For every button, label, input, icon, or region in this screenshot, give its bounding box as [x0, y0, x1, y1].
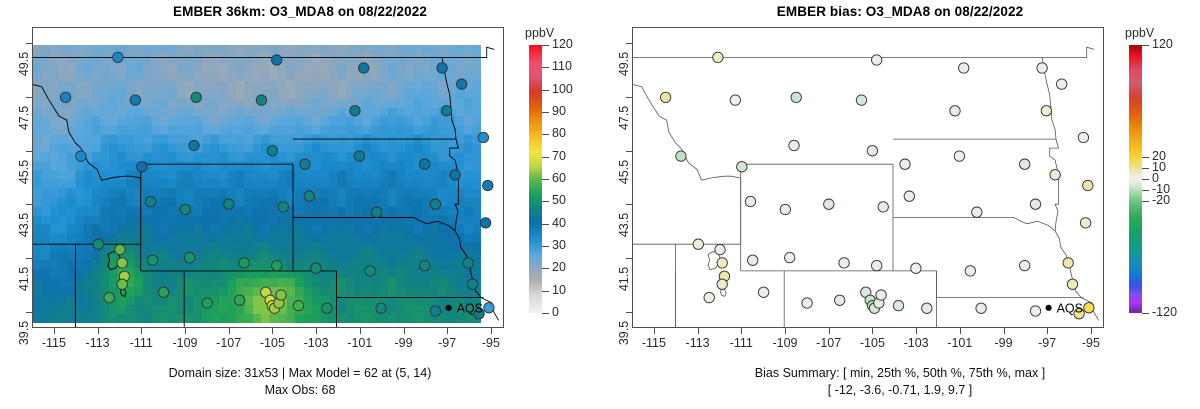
- colorbar-tick-label: 50: [552, 193, 566, 207]
- colorbar-tick-label: 120: [1152, 37, 1173, 51]
- bias-caption-line1: Bias Summary: [ min, 25th %, 50th %, 75t…: [600, 366, 1200, 380]
- colorbar-tick-label: -120: [1152, 305, 1177, 319]
- colorbar-tick-label: 80: [552, 126, 566, 140]
- colorbar-tick: [542, 313, 549, 314]
- colorbar-tick: [542, 179, 549, 180]
- colorbar-tick-label: 100: [552, 82, 573, 96]
- model-caption-line2: Max Obs: 68: [0, 383, 600, 397]
- colorbar-tick-label: 0: [552, 305, 559, 319]
- colorbar-tick-label: 60: [552, 171, 566, 185]
- colorbar-tick: [1142, 313, 1149, 314]
- bias-colorbar-unit: ppbV: [1125, 26, 1154, 40]
- bias-colorbar: ppbV -120-20-1001020120: [600, 0, 1200, 409]
- colorbar-tick-label: 40: [552, 216, 566, 230]
- bias-caption-line2: [ -12, -3.6, -0.71, 1.9, 9.7 ]: [600, 383, 1200, 397]
- colorbar-tick-label: 70: [552, 149, 566, 163]
- panel-model: EMBER 36km: O3_MDA8 on 08/22/2022 AQS -1…: [0, 0, 600, 409]
- model-caption-line1: Domain size: 31x53 | Max Model = 62 at (…: [0, 366, 600, 380]
- colorbar-tick: [542, 201, 549, 202]
- colorbar-tick: [542, 291, 549, 292]
- colorbar-tick-label: 20: [1152, 149, 1166, 163]
- panel-bias: EMBER bias: O3_MDA8 on 08/22/2022 AQS -1…: [600, 0, 1200, 409]
- colorbar-tick: [542, 67, 549, 68]
- model-colorbar-strip: [529, 45, 542, 313]
- colorbar-tick-label: 30: [552, 238, 566, 252]
- colorbar-tick: [1142, 190, 1149, 191]
- colorbar-tick-label: 110: [552, 59, 572, 73]
- model-colorbar-unit: ppbV: [525, 26, 554, 40]
- colorbar-tick: [1142, 168, 1149, 169]
- colorbar-tick: [542, 112, 549, 113]
- colorbar-tick-label: 120: [552, 37, 573, 51]
- colorbar-tick-label: 90: [552, 104, 566, 118]
- colorbar-tick: [1142, 157, 1149, 158]
- colorbar-tick: [1142, 45, 1149, 46]
- colorbar-tick: [1142, 179, 1149, 180]
- colorbar-tick: [542, 268, 549, 269]
- colorbar-tick-label: 20: [552, 260, 566, 274]
- colorbar-tick-label: 10: [552, 283, 566, 297]
- colorbar-tick: [542, 246, 549, 247]
- figure-root: EMBER 36km: O3_MDA8 on 08/22/2022 AQS -1…: [0, 0, 1200, 409]
- colorbar-tick: [542, 224, 549, 225]
- colorbar-tick: [542, 134, 549, 135]
- colorbar-tick: [542, 90, 549, 91]
- colorbar-tick: [542, 45, 549, 46]
- colorbar-tick: [542, 157, 549, 158]
- colorbar-tick: [1142, 201, 1149, 202]
- model-colorbar: ppbV 0102030405060708090100110120: [0, 0, 600, 409]
- bias-colorbar-strip: [1129, 45, 1142, 313]
